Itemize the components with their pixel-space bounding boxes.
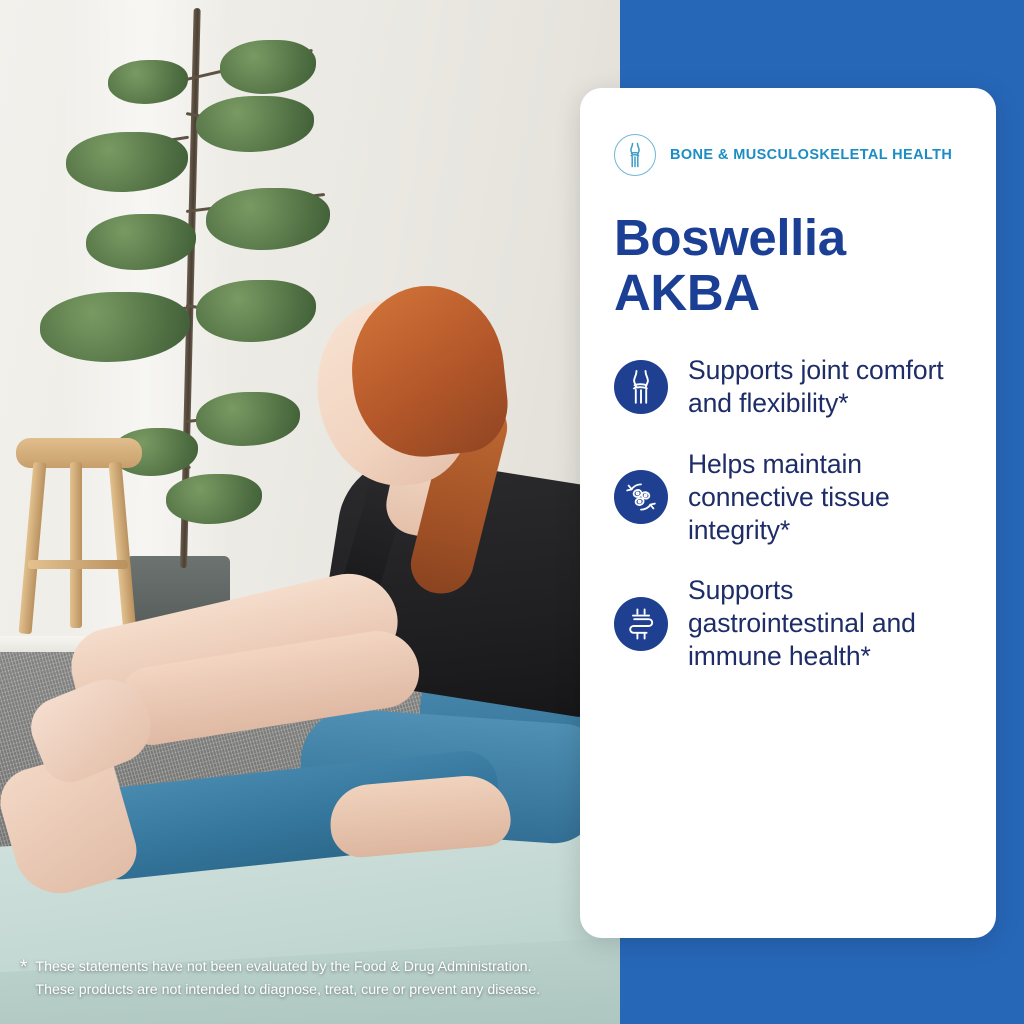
- disclaimer-line-1: These statements have not been evaluated…: [35, 956, 540, 979]
- cell-renewal-icon: [614, 470, 668, 524]
- category-line-2: MUSCULOSKELETAL HEALTH: [733, 147, 952, 163]
- knee-joint-icon: [614, 360, 668, 414]
- product-info-card: BONE & MUSCULOSKELETAL HEALTH Boswellia …: [580, 88, 996, 938]
- category-label: BONE & MUSCULOSKELETAL HEALTH: [670, 145, 952, 166]
- benefit-text: Supports gastrointestinal and immune hea…: [688, 574, 962, 673]
- benefit-item: Helps maintain connective tissue integri…: [614, 448, 962, 547]
- disclaimer-asterisk: *: [20, 956, 27, 977]
- benefit-item: Supports joint comfort and flexibility*: [614, 354, 962, 420]
- disclaimer-line-2: These products are not intended to diagn…: [35, 979, 540, 1002]
- benefits-list: Supports joint comfort and flexibility*: [614, 354, 962, 673]
- product-title-line-1: Boswellia: [614, 210, 962, 265]
- category-header: BONE & MUSCULOSKELETAL HEALTH: [614, 134, 962, 176]
- intestine-icon: [614, 597, 668, 651]
- category-line-1: BONE &: [670, 147, 729, 163]
- joint-outline-icon: [614, 134, 656, 176]
- disclaimer: * These statements have not been evaluat…: [20, 956, 616, 1002]
- benefit-item: Supports gastrointestinal and immune hea…: [614, 574, 962, 673]
- benefit-text: Helps maintain connective tissue integri…: [688, 448, 962, 547]
- disclaimer-text: These statements have not been evaluated…: [35, 956, 540, 1002]
- product-title: Boswellia AKBA: [614, 210, 962, 320]
- benefit-text: Supports joint comfort and flexibility*: [688, 354, 962, 420]
- product-title-line-2: AKBA: [614, 265, 962, 320]
- marketing-image: BONE & MUSCULOSKELETAL HEALTH Boswellia …: [0, 0, 1024, 1024]
